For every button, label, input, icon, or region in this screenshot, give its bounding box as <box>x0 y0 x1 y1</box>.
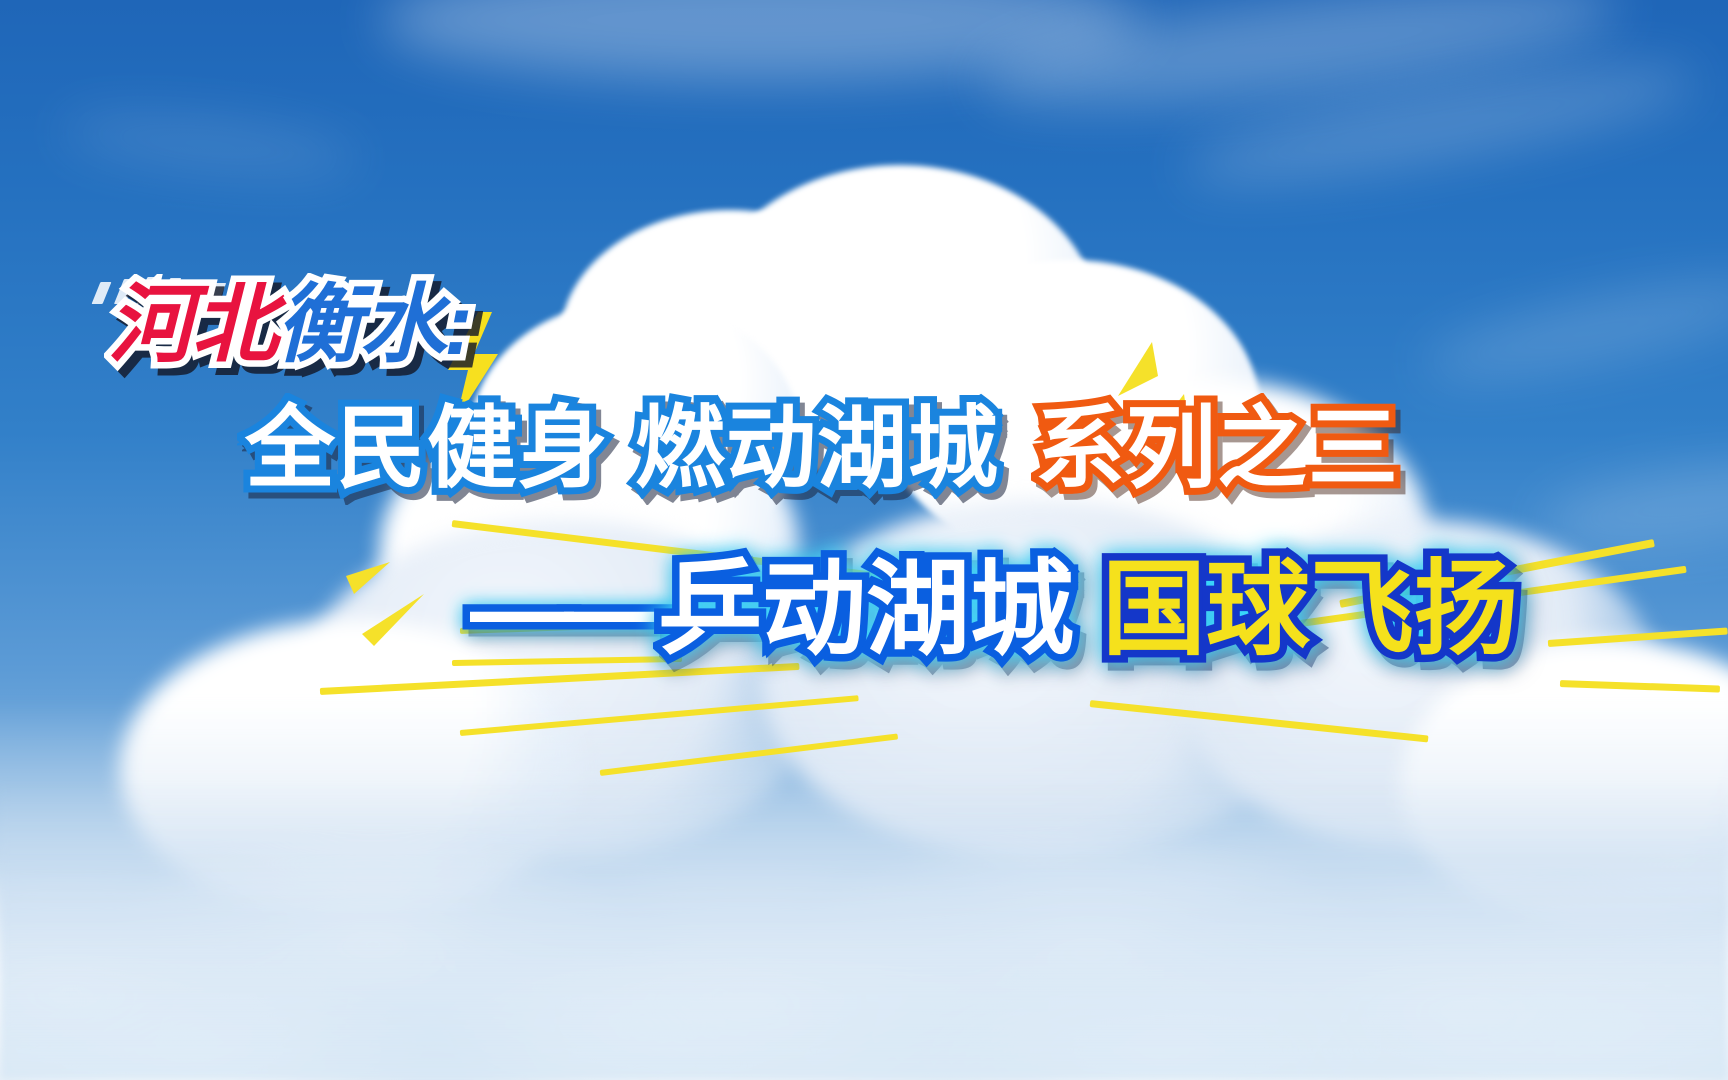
title-line2-main: 全民健身 燃动湖城 <box>245 404 999 494</box>
title-line-3: ——乒动湖城国球飞扬 <box>470 558 1518 662</box>
title-line-1: 河北衡水: <box>108 282 471 368</box>
title-line2-series: 系列之三 <box>1035 404 1399 494</box>
title-card: 河北衡水: 全民健身 燃动湖城系列之三 ——乒动湖城国球飞扬 <box>0 0 1728 1080</box>
title-line1-prefix: 河北 <box>108 282 276 368</box>
title-line1-suffix: 衡水: <box>276 282 471 368</box>
title-line3-main: 乒动湖城 <box>658 558 1074 662</box>
title-text-block: 河北衡水: 全民健身 燃动湖城系列之三 ——乒动湖城国球飞扬 <box>0 0 1728 1080</box>
title-line-2: 全民健身 燃动湖城系列之三 <box>245 404 1399 494</box>
title-line3-highlight: 国球飞扬 <box>1102 558 1518 662</box>
title-line3-dash: —— <box>470 558 658 662</box>
